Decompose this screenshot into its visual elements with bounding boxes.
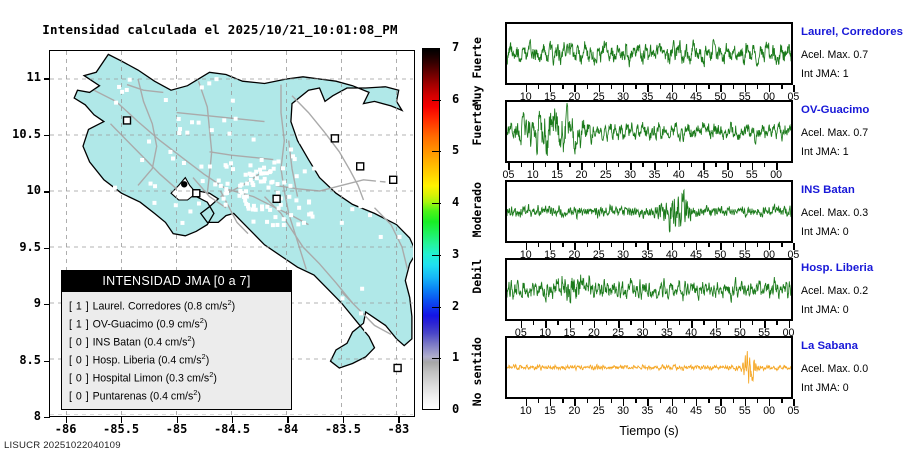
intensity-grid-cell xyxy=(168,150,172,154)
time-tick-label: 40 xyxy=(666,405,678,417)
jma-intensity-label: Int JMA: 0 xyxy=(801,304,849,316)
time-minor-tick xyxy=(587,243,588,247)
intensity-grid-cell xyxy=(289,213,293,217)
intensity-grid-cell xyxy=(398,235,402,239)
legend-item-station: Hospital Limon (0.3 cm/s xyxy=(93,373,210,385)
intensity-grid-cell xyxy=(208,165,212,169)
legend-item: [ 0 ] Puntarenas (0.4 cm/s2) xyxy=(69,386,291,404)
intensity-grid-cell xyxy=(261,171,265,175)
legend-item-level: [ 0 ] xyxy=(69,391,93,403)
time-minor-tick xyxy=(684,399,685,403)
intensity-grid-cell xyxy=(268,208,272,212)
intensity-grid-cell xyxy=(340,221,344,225)
intensity-grid-cell xyxy=(217,179,221,183)
time-tick-label: 50 xyxy=(715,405,727,417)
map-y-tick xyxy=(44,417,50,418)
max-acceleration-label: Acel. Max. 0.3 xyxy=(801,207,868,219)
time-minor-tick xyxy=(733,85,734,89)
legend-item-station: INS Batan (0.4 cm/s xyxy=(93,337,188,349)
map-y-tick-label: 10.5 xyxy=(0,127,41,141)
station-marker[interactable] xyxy=(331,135,338,142)
seismogram-trace-5[interactable] xyxy=(505,336,793,399)
intensity-grid-cell xyxy=(229,161,233,165)
intensity-grid-cell xyxy=(226,182,230,186)
intensity-grid-cell xyxy=(252,138,256,142)
intensity-grid-cell xyxy=(299,139,303,143)
map-x-tick-label: -85.5 xyxy=(91,422,151,436)
intensity-grid-cell xyxy=(341,173,345,177)
map-x-tick-label: -84.5 xyxy=(202,422,262,436)
colorbar-tick-label: 2 xyxy=(452,299,459,313)
map-x-tick xyxy=(398,417,399,423)
intensity-grid-cell xyxy=(276,159,280,163)
legend-title: INTENSIDAD JMA [0 a 7] xyxy=(62,271,291,292)
legend-item-level: [ 0 ] xyxy=(69,373,93,385)
time-tick-label: 05 xyxy=(788,405,800,417)
map-x-tick-label: -83.5 xyxy=(313,422,373,436)
intensity-grid-cell xyxy=(302,221,306,225)
map-x-tick xyxy=(121,417,122,423)
intensity-grid-cell xyxy=(153,184,157,188)
time-minor-tick xyxy=(708,399,709,403)
intensity-grid-cell xyxy=(114,101,118,105)
intensity-grid-cell xyxy=(197,202,201,206)
time-minor-tick xyxy=(569,163,570,167)
intensity-grid-cell xyxy=(276,191,280,195)
time-minor-tick xyxy=(655,321,656,325)
intensity-grid-cell xyxy=(244,189,248,193)
station-name-label: Laurel, Corredores xyxy=(801,26,903,38)
time-minor-tick xyxy=(562,399,563,403)
intensity-grid-cell xyxy=(288,184,292,188)
legend-item-close: ) xyxy=(232,301,236,313)
time-minor-tick xyxy=(757,85,758,89)
intensity-grid-cell xyxy=(201,179,205,183)
time-minor-tick xyxy=(684,85,685,89)
map-y-tick-label: 8.5 xyxy=(0,353,41,367)
time-tick-label: 35 xyxy=(642,405,654,417)
station-marker[interactable] xyxy=(193,190,200,197)
intensity-grid-cell xyxy=(171,157,175,161)
seismogram-time-axis-4: 051015202530354045505500 xyxy=(505,321,793,328)
intensity-colorbar xyxy=(422,48,440,410)
waveform-svg xyxy=(507,24,791,83)
intensity-grid-cell xyxy=(120,90,124,94)
intensity-grid-cell xyxy=(297,206,301,210)
intensity-grid-cell xyxy=(312,167,316,171)
colorbar-category-label: Fuerte xyxy=(470,104,484,146)
intensity-grid-cell xyxy=(359,311,363,315)
intensity-grid-cell xyxy=(251,183,255,187)
intensity-grid-cell xyxy=(381,164,385,168)
map-x-tick xyxy=(177,417,178,423)
time-minor-tick xyxy=(557,321,558,325)
intensity-grid-cell xyxy=(350,207,354,211)
time-tick-label: 00 xyxy=(763,405,775,417)
station-marker[interactable] xyxy=(124,117,131,124)
intensity-grid-cell xyxy=(227,231,231,235)
colorbar-tick xyxy=(432,203,441,204)
seismogram-trace-1[interactable] xyxy=(505,22,793,85)
intensity-grid-cell xyxy=(177,117,181,121)
time-minor-tick xyxy=(562,85,563,89)
colorbar-tick xyxy=(432,151,441,152)
legend-item-level: [ 1 ] xyxy=(69,301,93,313)
intensity-grid-cell xyxy=(200,85,204,89)
map-y-tick-label: 9 xyxy=(0,296,41,310)
legend-item-level: [ 0 ] xyxy=(69,337,93,349)
intensity-grid-cell xyxy=(368,213,372,217)
intensity-grid-cell xyxy=(231,99,235,103)
time-minor-tick xyxy=(691,163,692,167)
time-minor-tick xyxy=(533,321,534,325)
intensity-grid-cell xyxy=(125,88,129,92)
intensity-grid-cell xyxy=(213,182,217,186)
time-minor-tick xyxy=(611,85,612,89)
intensity-grid-cell xyxy=(245,182,249,186)
intensity-grid-cell xyxy=(260,207,264,211)
intensity-grid-cell xyxy=(376,180,380,184)
intensity-grid-cell xyxy=(364,328,368,332)
time-minor-tick xyxy=(594,163,595,167)
map-x-tick-label: -84 xyxy=(257,422,317,436)
legend-item-close: ) xyxy=(197,391,201,403)
intensity-grid-cell xyxy=(149,182,153,186)
time-minor-tick xyxy=(538,85,539,89)
seismogram-time-axis-3: 101520253035404550550005 xyxy=(505,243,793,250)
time-minor-tick xyxy=(715,163,716,167)
station-name-label: OV-Guacimo xyxy=(801,104,869,116)
intensity-grid-cell xyxy=(248,172,252,176)
time-minor-tick xyxy=(728,321,729,325)
intensity-grid-cell xyxy=(275,223,279,227)
intensity-grid-cell xyxy=(282,217,286,221)
intensity-grid-cell xyxy=(296,222,300,226)
intensity-grid-cell xyxy=(235,238,239,242)
intensity-grid-cell xyxy=(178,127,182,131)
waveform-svg xyxy=(507,102,791,161)
legend-item-list: [ 1 ] Laurel. Corredores (0.8 cm/s2)[ 1 … xyxy=(62,292,291,409)
intensity-grid-cell xyxy=(277,206,281,210)
max-acceleration-label: Acel. Max. 0.2 xyxy=(801,285,868,297)
intensity-grid-cell xyxy=(249,178,253,182)
intensity-grid-cell xyxy=(269,181,273,185)
seismogram-time-axis-5: 101520253035404550550005 xyxy=(505,399,793,406)
intensity-grid-cell xyxy=(152,201,156,205)
time-minor-tick xyxy=(606,321,607,325)
time-minor-tick xyxy=(635,399,636,403)
colorbar-category-label: Muy Fuerte xyxy=(470,37,484,106)
intensity-grid-cell xyxy=(340,296,344,300)
legend-item: [ 1 ] Laurel. Corredores (0.8 cm/s2) xyxy=(69,296,291,314)
map-x-tick xyxy=(232,417,233,423)
time-minor-tick xyxy=(660,399,661,403)
intensity-grid-cell xyxy=(190,120,194,124)
time-tick-label: 30 xyxy=(617,405,629,417)
legend-item-close: ) xyxy=(213,373,217,385)
waveform-svg xyxy=(507,338,791,397)
intensity-grid-cell xyxy=(255,176,259,180)
seismogram-time-axis-1: 101520253035404550550005 xyxy=(505,85,793,92)
max-acceleration-label: Acel. Max. 0.7 xyxy=(801,127,868,139)
intensity-grid-cell xyxy=(186,237,190,241)
time-minor-tick xyxy=(757,399,758,403)
intensity-grid-cell xyxy=(244,202,248,206)
intensity-grid-cell xyxy=(197,121,201,125)
intensity-grid-cell xyxy=(291,154,295,158)
jma-intensity-label: Int JMA: 1 xyxy=(801,68,849,80)
intensity-grid-cell xyxy=(182,161,186,165)
time-minor-tick xyxy=(708,85,709,89)
time-minor-tick xyxy=(708,243,709,247)
intensity-grid-cell xyxy=(224,163,228,167)
time-minor-tick xyxy=(679,321,680,325)
intensity-grid-cell xyxy=(258,168,262,172)
intensity-grid-cell xyxy=(325,162,329,166)
intensity-grid-cell xyxy=(279,203,283,207)
station-marker[interactable] xyxy=(273,195,280,202)
legend-item-station: Hosp. Liberia (0.4 cm/s xyxy=(93,355,202,367)
footer-watermark: LISUCR 20251022040109 xyxy=(4,440,121,451)
colorbar-tick-label: 4 xyxy=(452,195,459,209)
station-marker[interactable] xyxy=(357,163,364,170)
intensity-grid-cell xyxy=(128,78,132,82)
legend-item-level: [ 1 ] xyxy=(69,319,93,331)
colorbar-tick xyxy=(432,255,441,256)
jma-intensity-label: Int JMA: 1 xyxy=(801,146,849,158)
time-minor-tick xyxy=(582,321,583,325)
intensity-grid-cell xyxy=(224,203,228,207)
map-x-tick-label: -85 xyxy=(147,422,207,436)
intensity-grid-cell xyxy=(371,169,375,173)
intensity-grid-cell xyxy=(185,131,189,135)
intensity-grid-cell xyxy=(177,131,181,135)
jma-intensity-label: Int JMA: 0 xyxy=(801,382,849,394)
intensity-grid-cell xyxy=(281,166,285,170)
time-minor-tick xyxy=(587,85,588,89)
map-legend-box: INTENSIDAD JMA [0 a 7] [ 1 ] Laurel. Cor… xyxy=(61,270,292,410)
time-tick-label: 55 xyxy=(739,405,751,417)
intensity-grid-cell xyxy=(237,194,241,198)
intensity-grid-cell xyxy=(336,304,340,308)
map-x-tick-label: -86 xyxy=(36,422,96,436)
colorbar-tick-label: 6 xyxy=(452,92,459,106)
time-minor-tick xyxy=(752,321,753,325)
intensity-grid-cell xyxy=(282,223,286,227)
intensity-grid-cell xyxy=(338,316,342,320)
time-minor-tick xyxy=(587,399,588,403)
waveform-line xyxy=(507,103,791,156)
intensity-grid-cell xyxy=(379,235,383,239)
time-minor-tick xyxy=(660,85,661,89)
colorbar-tick xyxy=(432,358,441,359)
map-x-tick-label: -83 xyxy=(368,422,428,436)
intensity-grid-cell xyxy=(231,167,235,171)
time-minor-tick xyxy=(781,243,782,247)
legend-item: [ 0 ] Hospital Limon (0.3 cm/s2) xyxy=(69,368,291,386)
time-minor-tick xyxy=(538,399,539,403)
time-minor-tick xyxy=(635,243,636,247)
intensity-grid-cell xyxy=(271,223,275,227)
waveform-line xyxy=(507,40,791,68)
legend-item-station: OV-Guacimo (0.9 cm/s xyxy=(93,319,200,331)
colorbar-category-label: Debil xyxy=(470,259,484,294)
colorbar-tick-label: 3 xyxy=(452,247,459,261)
legend-item-close: ) xyxy=(206,355,210,367)
seismogram-trace-4[interactable] xyxy=(505,258,793,321)
intensity-grid-cell xyxy=(243,243,247,247)
intensity-grid-cell xyxy=(272,161,276,165)
legend-item: [ 0 ] INS Batan (0.4 cm/s2) xyxy=(69,332,291,350)
map-y-tick-label: 11 xyxy=(0,70,41,84)
legend-item: [ 1 ] OV-Guacimo (0.9 cm/s2) xyxy=(69,314,291,332)
colorbar-category-label: Moderado xyxy=(470,182,484,237)
intensity-grid-cell xyxy=(267,186,271,190)
legend-item-close: ) xyxy=(204,319,208,331)
map-y-tick-label: 10 xyxy=(0,183,41,197)
time-minor-tick xyxy=(733,243,734,247)
time-minor-tick xyxy=(764,163,765,167)
time-minor-tick xyxy=(781,399,782,403)
intensity-grid-cell xyxy=(238,184,242,188)
intensity-grid-cell xyxy=(251,220,255,224)
time-minor-tick xyxy=(611,399,612,403)
intensity-grid-cell xyxy=(272,167,276,171)
legend-item: [ 0 ] Hosp. Liberia (0.4 cm/s2) xyxy=(69,350,291,368)
time-tick-label: 15 xyxy=(544,405,556,417)
intensity-grid-cell xyxy=(372,183,376,187)
map-x-tick xyxy=(343,417,344,423)
colorbar-tick-label: 1 xyxy=(452,350,459,364)
time-tick-label: 45 xyxy=(690,405,702,417)
intensity-grid-cell xyxy=(188,209,192,213)
epicenter-marker[interactable] xyxy=(181,181,187,187)
legend-item-station: Laurel. Corredores (0.8 cm/s xyxy=(93,301,228,313)
time-minor-tick xyxy=(757,243,758,247)
intensity-grid-cell xyxy=(307,200,311,204)
waveform-line xyxy=(507,275,791,304)
waveform-line xyxy=(507,351,791,383)
intensity-grid-cell xyxy=(113,186,117,190)
time-minor-tick xyxy=(635,85,636,89)
seismogram-trace-3[interactable] xyxy=(505,180,793,243)
intensity-grid-cell xyxy=(164,98,168,102)
time-minor-tick xyxy=(776,321,777,325)
intensity-grid-cell xyxy=(265,220,269,224)
intensity-grid-cell xyxy=(207,81,211,85)
intensity-grid-cell xyxy=(289,148,293,152)
intensity-grid-cell xyxy=(273,215,277,219)
intensity-grid-cell xyxy=(262,166,266,170)
time-minor-tick xyxy=(630,321,631,325)
intensity-grid-cell xyxy=(222,197,226,201)
colorbar-tick-label: 7 xyxy=(452,40,459,54)
station-marker[interactable] xyxy=(390,176,397,183)
intensity-grid-cell xyxy=(140,158,144,162)
intensity-grid-cell xyxy=(225,191,229,195)
intensity-grid-cell xyxy=(260,158,264,162)
map-y-tick-label: 8 xyxy=(0,409,41,423)
station-name-label: INS Batan xyxy=(801,184,855,196)
time-minor-tick xyxy=(781,85,782,89)
time-minor-tick xyxy=(642,163,643,167)
time-minor-tick xyxy=(660,243,661,247)
intensity-grid-cell xyxy=(287,195,291,199)
intensity-grid-cell xyxy=(265,171,269,175)
intensity-grid-cell xyxy=(252,173,256,177)
intensity-grid-cell xyxy=(245,195,249,199)
seismogram-trace-2[interactable] xyxy=(505,100,793,163)
station-name-label: La Sabana xyxy=(801,340,858,352)
time-minor-tick xyxy=(618,163,619,167)
time-tick-label: 25 xyxy=(593,405,605,417)
intensity-grid-cell xyxy=(360,287,364,291)
map-x-tick xyxy=(66,417,67,423)
station-marker[interactable] xyxy=(394,364,401,371)
intensity-grid-cell xyxy=(227,132,231,136)
legend-item-station: Puntarenas (0.4 cm/s xyxy=(93,391,194,403)
intensity-grid-cell xyxy=(244,173,248,177)
intensity-grid-cell xyxy=(254,208,258,212)
intensity-grid-cell xyxy=(222,118,226,122)
intensity-grid-cell xyxy=(248,163,252,167)
time-minor-tick xyxy=(545,163,546,167)
time-minor-tick xyxy=(733,399,734,403)
intensity-grid-cell xyxy=(252,204,256,208)
intensity-grid-cell xyxy=(294,198,298,202)
jma-intensity-label: Int JMA: 0 xyxy=(801,226,849,238)
intensity-grid-cell xyxy=(295,174,299,178)
intensity-grid-cell xyxy=(411,224,413,228)
time-minor-tick xyxy=(740,163,741,167)
intensity-grid-cell xyxy=(117,85,121,89)
waveform-line xyxy=(507,190,791,232)
map-y-tick-label: 9.5 xyxy=(0,240,41,254)
station-name-label: Hosp. Liberia xyxy=(801,262,873,274)
time-minor-tick xyxy=(538,243,539,247)
waveform-svg xyxy=(507,182,791,241)
time-minor-tick xyxy=(703,321,704,325)
time-minor-tick xyxy=(611,243,612,247)
intensity-grid-cell xyxy=(325,128,329,132)
map-title: Intensidad calculada el 2025/10/21_10:01… xyxy=(0,22,440,37)
seismogram-x-axis-label: Tiempo (s) xyxy=(505,424,793,438)
intensity-grid-cell xyxy=(147,140,151,144)
legend-item-level: [ 0 ] xyxy=(69,355,93,367)
intensity-grid-cell xyxy=(358,204,362,208)
intensity-grid-cell xyxy=(351,196,355,200)
colorbar-tick xyxy=(432,100,441,101)
intensity-grid-cell xyxy=(199,165,203,169)
intensity-grid-cell xyxy=(215,77,219,81)
intensity-grid-cell xyxy=(276,182,280,186)
intensity-grid-cell xyxy=(307,212,311,216)
map-plot-area[interactable]: INTENSIDAD JMA [0 a 7] [ 1 ] Laurel. Cor… xyxy=(49,50,415,417)
intensity-grid-cell xyxy=(311,215,315,219)
intensity-grid-cell xyxy=(174,203,178,207)
intensity-grid-cell xyxy=(282,181,286,185)
legend-item-close: ) xyxy=(192,337,196,349)
time-minor-tick xyxy=(521,163,522,167)
intensity-grid-cell xyxy=(210,128,214,132)
intensity-grid-cell xyxy=(219,184,223,188)
intensity-grid-cell xyxy=(180,221,184,225)
colorbar-tick-label: 0 xyxy=(452,402,459,416)
time-minor-tick xyxy=(562,243,563,247)
waveform-svg xyxy=(507,260,791,319)
colorbar-tick xyxy=(432,307,441,308)
intensity-grid-cell xyxy=(361,153,365,157)
